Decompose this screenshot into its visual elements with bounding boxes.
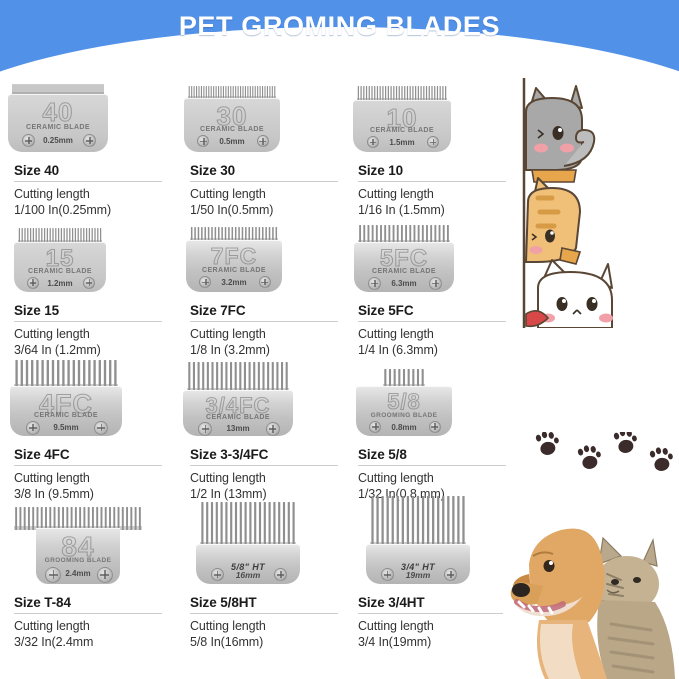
blade-cutting-length-label: Cutting length: [190, 471, 360, 487]
blade-size-engraving: 40: [8, 99, 108, 125]
blade-caption: Size 5/8HTCutting length5/8 In(16mm): [190, 595, 360, 650]
blade-screw-icon: [211, 568, 224, 581]
blade-screw-icon: [368, 277, 381, 290]
caption-divider: [358, 613, 506, 614]
blade-screw-icon: [94, 421, 108, 435]
blade-caption: Size 30Cutting length1/50 In(0.5mm): [190, 163, 360, 218]
blade-caption-title: Size 3-3/4FC: [190, 447, 360, 462]
blade-card-size-5-8: 5/8GROOMING BLADE0.8mmSize 5/8Cutting le…: [358, 356, 528, 504]
blade-brand-label: CERAMIC BLADE: [186, 267, 282, 274]
blade-image-size-30: 30CERAMIC BLADE0.5mm: [184, 82, 280, 152]
dog-and-cat-photo: [503, 504, 679, 679]
blade-brand-label: CERAMIC BLADE: [8, 124, 108, 131]
blade-image-size-10: 10CERAMIC BLADE1.5mm: [353, 82, 451, 152]
paw-print-icon: [649, 445, 675, 473]
blade-caption: Size 7FCCutting length1/8 In (3.2mm): [190, 303, 360, 358]
caption-divider: [358, 465, 506, 466]
blade-caption: Size 3-3/4FCCutting length1/2 In (13mm): [190, 447, 360, 502]
blade-caption-title: Size 5/8: [358, 447, 528, 462]
blade-screw-icon: [369, 421, 381, 433]
blade-caption-title: Size 30: [190, 163, 360, 178]
blade-cutting-length-label: Cutting length: [358, 471, 528, 487]
blade-cutting-length-label: Cutting length: [190, 619, 360, 635]
blade-cutting-length-label: Cutting length: [14, 471, 184, 487]
blade-cutting-length-label: Cutting length: [358, 187, 528, 203]
blade-screw-icon: [83, 277, 95, 289]
blade-card-size-5-8ht: 5/8" HT16mmSize 5/8HTCutting length5/8 I…: [190, 504, 360, 652]
blade-screw-icon: [83, 134, 96, 147]
blade-screw-icon: [429, 421, 441, 433]
blade-teeth: [357, 82, 447, 102]
blade-caption-title: Size 5/8HT: [190, 595, 360, 610]
blade-image-size-40: 40CERAMIC BLADE0.25mm: [8, 80, 108, 152]
orange-cat-icon: [526, 178, 580, 264]
paw-print-icon: [613, 432, 639, 455]
blade-cutting-length-label: Cutting length: [358, 327, 528, 343]
blade-screw-icon: [266, 422, 280, 436]
blade-brand-label: CERAMIC BLADE: [10, 412, 122, 419]
blade-brand-label: CERAMIC BLADE: [14, 268, 106, 275]
blade-cutting-length-value: 5/8 In(16mm): [190, 635, 360, 651]
blade-screw-icon: [22, 134, 35, 147]
blade-screw-icon: [367, 136, 379, 148]
blade-teeth: [14, 356, 118, 388]
blade-image-size-3-3-4fc: 3/4FCCERAMIC BLADE13mm: [183, 358, 293, 436]
blade-card-size-3-3-4fc: 3/4FCCERAMIC BLADE13mmSize 3-3/4FCCuttin…: [190, 356, 360, 504]
blade-card-size-4fc: 4FCCERAMIC BLADE9.5mmSize 4FCCutting len…: [14, 356, 184, 504]
paw-print-icon: [535, 432, 561, 457]
blade-teeth: [383, 366, 425, 388]
blade-caption-title: Size 40: [14, 163, 184, 178]
blade-teeth: [370, 492, 466, 546]
blade-caption-title: Size 4FC: [14, 447, 184, 462]
white-cat-icon: [526, 260, 613, 328]
caption-divider: [358, 321, 506, 322]
blade-card-size-t-84: 84GROOMING BLADE2.4mmSize T-84Cutting le…: [14, 504, 184, 652]
blade-caption: Size 5FCCutting length1/4 In (6.3mm): [358, 303, 528, 358]
blade-screw-icon: [45, 567, 61, 583]
blade-caption: Size 4FCCutting length3/8 In (9.5mm): [14, 447, 184, 502]
blade-caption-title: Size 15: [14, 303, 184, 318]
blade-teeth: [200, 498, 296, 546]
blade-mm-engraving: 2.4mm: [10, 569, 146, 578]
blade-teeth: [14, 504, 142, 530]
blade-caption: Size 10Cutting length1/16 In (1.5mm): [358, 163, 528, 218]
stacked-cats-illustration: [518, 78, 638, 328]
paw-print-icon: [577, 443, 603, 471]
blade-caption: Size T-84Cutting length3/32 In(2.4mm: [14, 595, 184, 650]
blade-cutting-length-label: Cutting length: [14, 187, 184, 203]
blade-screw-icon: [26, 421, 40, 435]
caption-divider: [190, 465, 338, 466]
blade-screw-icon: [97, 567, 113, 583]
blade-brand-label: CERAMIC BLADE: [184, 126, 280, 133]
blade-cutting-length-label: Cutting length: [190, 187, 360, 203]
caption-divider: [358, 181, 506, 182]
blade-image-size-7fc: 7FCCERAMIC BLADE3.2mm: [186, 224, 282, 292]
blade-cutting-length-label: Cutting length: [190, 327, 360, 343]
blade-screw-icon: [27, 277, 39, 289]
paw-prints-decoration: [528, 432, 678, 484]
blade-cutting-length-value: 3/32 In(2.4mm: [14, 635, 184, 651]
blade-cutting-length-value: 3/8 In (9.5mm): [14, 487, 184, 503]
gray-cat-icon: [526, 86, 594, 182]
blade-brand-label: CERAMIC BLADE: [183, 414, 293, 421]
caption-divider: [14, 321, 162, 322]
blade-image-size-5-8: 5/8GROOMING BLADE0.8mm: [356, 366, 452, 436]
blade-caption-title: Size 7FC: [190, 303, 360, 318]
blade-card-size-7fc: 7FCCERAMIC BLADE3.2mmSize 7FCCutting len…: [190, 212, 360, 360]
blade-image-size-5-8ht: 5/8" HT16mm: [196, 498, 300, 584]
caption-divider: [190, 181, 338, 182]
blade-brand-label: GROOMING BLADE: [356, 412, 452, 419]
caption-divider: [14, 613, 162, 614]
blade-card-size-15: 15CERAMIC BLADE1.2mmSize 15Cutting lengt…: [14, 212, 184, 360]
blade-image-size-3-4ht: 3/4" HT19mm: [366, 492, 470, 584]
blade-caption: Size 15Cutting length3/64 In (1.2mm): [14, 303, 184, 358]
blade-screw-icon: [259, 276, 271, 288]
blade-image-size-5fc: 5FCCERAMIC BLADE6.3mm: [354, 222, 454, 292]
blade-image-size-4fc: 4FCCERAMIC BLADE9.5mm: [10, 356, 122, 436]
caption-divider: [190, 321, 338, 322]
blade-teeth: [18, 224, 102, 244]
blade-image-size-15: 15CERAMIC BLADE1.2mm: [14, 224, 106, 292]
blade-card-size-40: 40CERAMIC BLADE0.25mmSize 40Cutting leng…: [14, 72, 184, 220]
blade-caption-title: Size 10: [358, 163, 528, 178]
caption-divider: [14, 465, 162, 466]
caption-divider: [14, 181, 162, 182]
blade-brand-label: CERAMIC BLADE: [353, 127, 451, 134]
product-infographic: PET GROMING BLADES 40CERAMIC BLADE0.25mm…: [0, 0, 679, 679]
blade-teeth: [358, 222, 450, 244]
blade-screw-icon: [257, 135, 269, 147]
blade-card-size-30: 30CERAMIC BLADE0.5mmSize 30Cutting lengt…: [190, 72, 360, 220]
blade-teeth: [187, 358, 289, 392]
blade-cutting-length-label: Cutting length: [14, 619, 184, 635]
blade-caption-title: Size T-84: [14, 595, 184, 610]
blade-cutting-length-label: Cutting length: [14, 327, 184, 343]
blade-brand-label: CERAMIC BLADE: [354, 268, 454, 275]
blade-card-size-5fc: 5FCCERAMIC BLADE6.3mmSize 5FCCutting len…: [358, 212, 528, 360]
blade-brand-label: GROOMING BLADE: [10, 557, 146, 564]
blade-screw-icon: [381, 568, 394, 581]
caption-divider: [190, 613, 338, 614]
blade-card-size-10: 10CERAMIC BLADE1.5mmSize 10Cutting lengt…: [358, 72, 528, 220]
blade-size-engraving: 7FC: [186, 245, 282, 268]
page-title: PET GROMING BLADES: [0, 11, 679, 42]
blade-caption: Size 40Cutting length1/100 In(0.25mm): [14, 163, 184, 218]
blade-image-size-t-84: 84GROOMING BLADE2.4mm: [10, 504, 146, 584]
blade-caption-title: Size 5FC: [358, 303, 528, 318]
blade-screw-icon: [429, 277, 442, 290]
blade-size-engraving: 5/8: [356, 391, 452, 413]
